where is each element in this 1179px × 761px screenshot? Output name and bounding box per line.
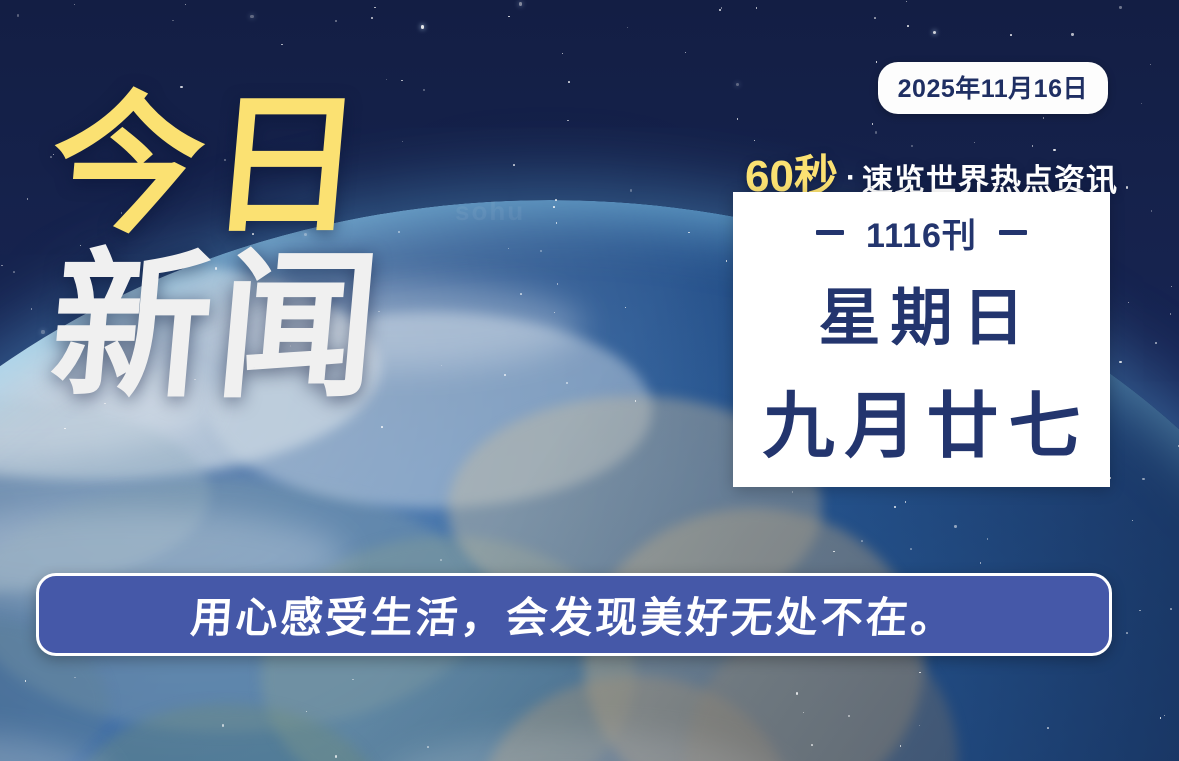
slogan-text: 用心感受生活，会发现美好无处不在。 [189, 584, 958, 645]
dash-right-icon [999, 230, 1027, 235]
issue-row: 1116刊 [816, 208, 1027, 257]
dash-left-icon [816, 230, 844, 235]
watermark: sohu [455, 196, 525, 227]
date-badge: 2025年11月16日 [878, 62, 1108, 114]
poster-title: 今日 新闻 [52, 92, 384, 406]
issue-number: 1116刊 [866, 208, 977, 257]
title-line-news: 新闻 [45, 249, 391, 406]
lunar-date-label: 九月廿七 [752, 367, 1090, 472]
date-card: 1116刊 星期日 九月廿七 [733, 192, 1110, 487]
weekday-label: 星期日 [808, 267, 1034, 357]
tagline-separator: · [846, 161, 856, 195]
news-poster: sohu 今日 新闻 2025年11月16日 60秒 · 速览世界热点资讯 11… [0, 0, 1179, 761]
slogan-banner: 用心感受生活，会发现美好无处不在。 [36, 573, 1112, 656]
title-line-today: 今日 [45, 92, 390, 241]
